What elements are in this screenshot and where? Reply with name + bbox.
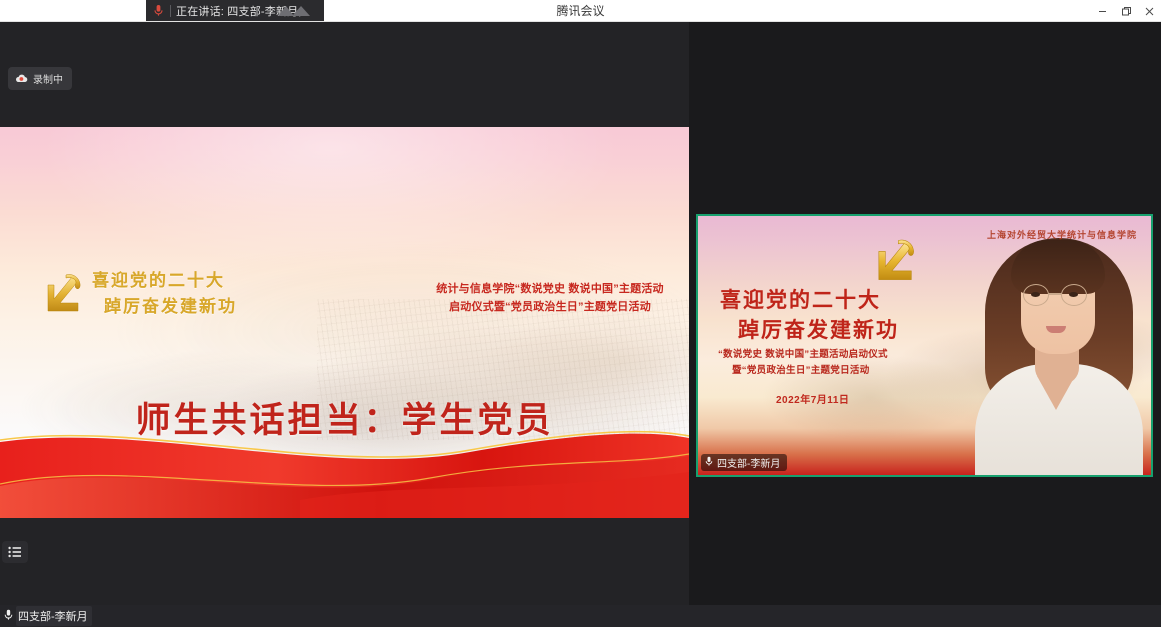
participant-video-tile[interactable]: 上海对外经贸大学统计与信息学院 喜迎党的二: [696, 214, 1153, 477]
video-frame: 上海对外经贸大学统计与信息学院 喜迎党的二: [698, 216, 1151, 475]
meeting-stage: 录制中: [0, 22, 1161, 605]
tencent-meeting-window: 腾讯会议: [0, 0, 1161, 627]
floating-speaking-bar[interactable]: 正在讲话: 四支部-李新月;: [146, 0, 324, 21]
cloud-recording-icon: [15, 70, 28, 88]
video-sub-line1: “数说党史 数说中国”主题活动启动仪式: [718, 346, 888, 360]
recording-indicator[interactable]: 录制中: [8, 67, 72, 90]
shared-slide[interactable]: 喜迎党的二十大 踔厉奋发建新功 统计与信息学院“数说党史 数说中国”主题活动 启…: [0, 127, 689, 518]
glasses-bridge: [1048, 293, 1062, 295]
left-eye: [1031, 292, 1040, 297]
minimize-button[interactable]: [1090, 0, 1114, 22]
slide-header-line1: 统计与信息学院“数说党史 数说中国”主题活动: [430, 280, 670, 298]
slide-logo-line1: 喜迎党的二十大: [92, 266, 225, 291]
participant-name-badge: 四支部-李新月: [701, 454, 787, 471]
bottom-participant-name: 四支部-李新月: [16, 606, 92, 626]
recording-label: 录制中: [33, 71, 63, 86]
slide-header: 统计与信息学院“数说党史 数说中国”主题活动 启动仪式暨“党员政治生日”主题党日…: [430, 280, 670, 316]
bottom-status-bar: 四支部-李新月: [0, 605, 1161, 627]
video-date: 2022年7月11日: [776, 391, 849, 406]
slide-list-icon[interactable]: [2, 541, 28, 563]
microphone-icon: [146, 0, 170, 21]
participant-name-text: 四支部-李新月: [717, 455, 780, 470]
video-banner-line2: 踔厉奋发建新功: [738, 314, 899, 344]
right-eye: [1069, 292, 1078, 297]
party-emblem-icon: [38, 269, 86, 320]
bottom-participant[interactable]: 四支部-李新月: [0, 606, 92, 626]
audio-wave-icon: [274, 0, 320, 21]
slide-logo-block: 喜迎党的二十大 踔厉奋发建新功: [30, 265, 260, 321]
microphone-icon: [705, 456, 713, 470]
participant-avatar: [951, 216, 1151, 475]
divider: [170, 5, 171, 17]
slide-header-line2: 启动仪式暨“党员政治生日”主题党日活动: [430, 298, 670, 316]
party-emblem-icon: [868, 234, 920, 289]
close-button[interactable]: [1138, 0, 1161, 22]
window-controls: [1090, 0, 1161, 22]
video-banner-line1: 喜迎党的二十大: [720, 284, 881, 314]
hair-top: [1011, 240, 1105, 294]
maximize-button[interactable]: [1114, 0, 1138, 22]
slide-logo-line2: 踔厉奋发建新功: [104, 292, 237, 317]
video-sub-line2: 暨“党员政治生日”主题党日活动: [732, 362, 870, 376]
red-ribbon-decoration: [0, 408, 689, 518]
microphone-icon: [4, 609, 13, 624]
video-school-name: 上海对外经贸大学统计与信息学院: [987, 228, 1137, 241]
